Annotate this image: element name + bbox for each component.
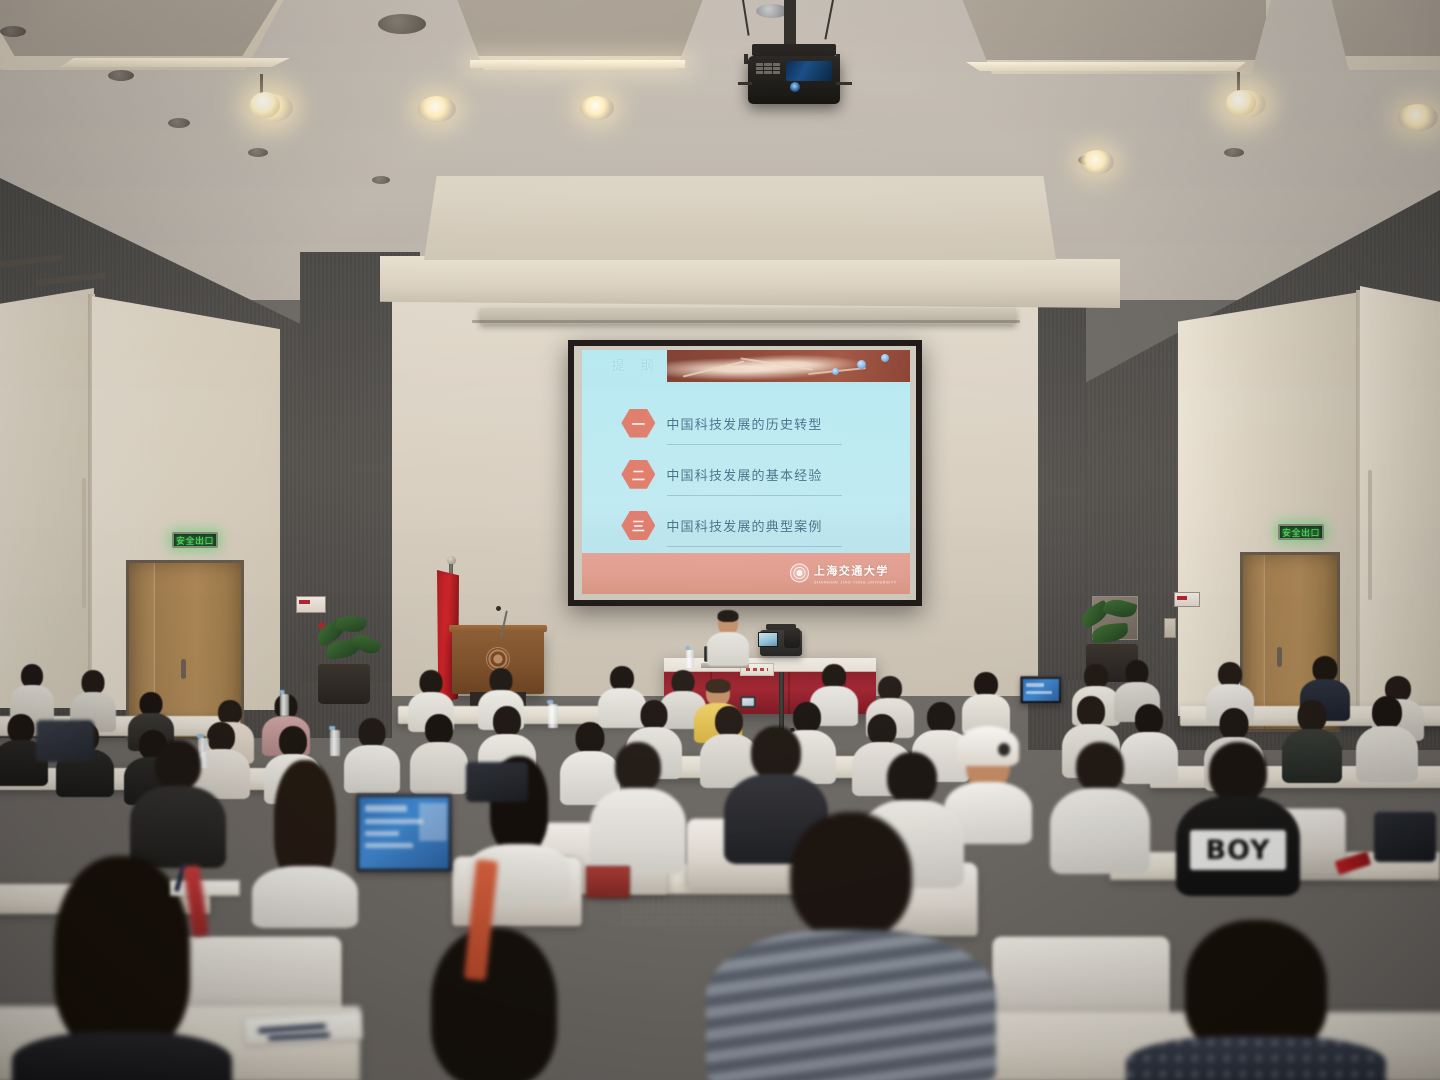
audience-laptop-far-right[interactable] — [1020, 676, 1062, 704]
backpack-right — [1374, 812, 1436, 862]
head — [1135, 704, 1163, 735]
university-logo-text: 上海交通大学 — [814, 565, 889, 578]
bottle-cap — [197, 734, 203, 738]
torso — [706, 930, 996, 1080]
slide-art-node-2 — [881, 354, 889, 362]
head — [751, 726, 801, 780]
laptop-screen-panel — [365, 805, 407, 812]
exit-sign-right-label: 安全出口 — [1282, 526, 1320, 539]
exit-sign-left: 安全出口 — [172, 532, 218, 548]
audience-bottle-3 — [548, 704, 558, 728]
head — [1076, 742, 1124, 792]
slide-outline-item-1: 一 中国科技发展的历史转型 — [621, 409, 822, 438]
slide-item-badge-2: 二 — [621, 460, 655, 489]
projector-keypad — [756, 63, 780, 74]
head — [790, 812, 912, 940]
audience-member-m19 — [1356, 696, 1418, 780]
slide-art-node-3 — [832, 368, 839, 375]
lectern-microphone-head — [496, 606, 501, 611]
head — [8, 714, 35, 743]
audience-member-n2-boy-shirt: BOY — [1176, 742, 1300, 892]
wall-panel-right-reveal — [1368, 470, 1372, 600]
ceiling-speaker-5 — [372, 176, 390, 184]
ceiling-speaker-1 — [378, 14, 426, 34]
tshirt-print: BOY — [1190, 830, 1286, 870]
wall-panel-right-outer — [1360, 286, 1440, 714]
slide-item-underline-1 — [667, 444, 842, 445]
audience-member-n9 — [1050, 742, 1150, 868]
audience-member-n4 — [590, 742, 686, 868]
ceiling-downlight-6 — [1398, 104, 1438, 131]
projector-indicator-panel — [786, 61, 832, 81]
audience-laptop-screen-near — [359, 797, 449, 869]
slide-title: 提 纲 — [612, 355, 660, 374]
torso — [252, 866, 358, 928]
camera-bag-mid — [466, 762, 528, 802]
long-hair — [431, 928, 557, 1080]
cap-button-icon — [998, 743, 1010, 757]
laptop-screen-panel — [419, 803, 447, 841]
pendant-globe-left — [250, 92, 280, 118]
video-camera-lens-hood — [784, 628, 800, 648]
head — [493, 706, 521, 737]
presenter-hair — [718, 610, 739, 622]
white-baseball-cap — [957, 726, 1019, 766]
ceiling-speaker-2 — [108, 70, 134, 81]
head — [279, 726, 307, 757]
bottle-cap — [279, 690, 284, 694]
hair — [706, 679, 731, 693]
head — [1298, 700, 1327, 732]
audience-phone-center[interactable] — [740, 696, 756, 708]
slide-outline-item-3: 三 中国科技发展的典型案例 — [621, 511, 822, 540]
torso — [12, 1032, 232, 1080]
ceiling-cove-light-right — [966, 62, 1246, 71]
slide-item-text-1: 中国科技发展的历史转型 — [666, 414, 822, 433]
wall-notice-plate-left — [296, 596, 326, 613]
laptop-screen-panel — [1026, 683, 1044, 687]
laptop-screen-panel — [365, 843, 413, 848]
head — [1209, 742, 1267, 802]
head — [868, 714, 897, 745]
projector-body — [748, 56, 840, 104]
ceiling-coffer-far-right — [1290, 0, 1440, 70]
audience-bottle-4 — [280, 694, 289, 716]
projection-screen-surface: 提 纲 一 中国科技发展的历史转型 二 中国科技发展的基本经验 三 中国科技发展… — [574, 346, 916, 600]
projector-hanger-wire-left — [742, 0, 750, 36]
slide-footer-band: 上海交通大学 SHANGHAI JIAO TONG UNIVERSITY — [582, 553, 910, 594]
door-left-handle[interactable] — [181, 659, 186, 679]
wall-panel-left-reveal — [82, 478, 86, 608]
projection-screen: 提 纲 一 中国科技发展的历史转型 二 中国科技发展的基本经验 三 中国科技发展… — [568, 340, 922, 606]
presentation-slide: 提 纲 一 中国科技发展的历史转型 二 中国科技发展的基本经验 三 中国科技发展… — [582, 350, 910, 594]
ceiling-downlight-2 — [418, 96, 456, 122]
slide-item-underline-3 — [667, 546, 842, 547]
bottle-cap — [547, 700, 553, 704]
water-bottle-cap — [686, 646, 690, 650]
ceiling-speaker-7 — [1224, 148, 1244, 157]
torso — [410, 742, 468, 794]
long-hair-ponytail — [274, 760, 336, 882]
head — [1077, 696, 1105, 727]
pendant-globe-right — [1226, 90, 1256, 116]
presenter — [706, 612, 750, 664]
audience-member-fg3-striped — [706, 812, 996, 1080]
soffit-shadow-line — [472, 320, 1020, 323]
audience-member-fg4 — [1126, 924, 1386, 1080]
wall-notice-plate-right — [1174, 592, 1200, 607]
university-logo-subtext: SHANGHAI JIAO TONG UNIVERSITY — [814, 580, 897, 585]
torso — [1126, 1036, 1386, 1080]
laptop-screen-panel — [1026, 691, 1052, 694]
exit-sign-left-label: 安全出口 — [176, 534, 214, 547]
head — [155, 740, 201, 790]
projector-side-rail-left — [738, 82, 752, 85]
video-camera-lcd-screen — [758, 632, 778, 647]
ceiling-speaker-3 — [168, 118, 190, 128]
projector-lens — [790, 82, 800, 92]
presenter-torso — [707, 632, 749, 666]
projector-mount-plate — [752, 44, 836, 56]
bottle-cap — [329, 726, 335, 730]
ceiling-downlight-4 — [1080, 150, 1114, 174]
ceiling-downlight-3 — [580, 96, 614, 120]
audience-member-n8 — [130, 740, 226, 862]
audience-member-n7 — [252, 762, 358, 922]
lecture-hall-photo: 安全出口 安全出口 提 纲 一 中国 — [0, 0, 1440, 1080]
head — [359, 718, 386, 748]
audience-member-fg2 — [394, 928, 594, 1080]
slide-art-strand-2 — [740, 357, 812, 370]
pendant-rod-right — [1237, 72, 1240, 92]
ceiling-cove-light-center — [470, 60, 685, 68]
pendant-rod-left — [260, 74, 263, 94]
plant-pot-left — [318, 664, 370, 704]
torso — [1356, 726, 1418, 782]
backpack-left — [36, 720, 94, 762]
red-notebook-mid — [586, 866, 630, 898]
stage-soffit-beam — [380, 256, 1120, 308]
head — [615, 742, 661, 792]
projector-mount-pole — [784, 0, 796, 48]
ceiling-speaker-4 — [248, 148, 268, 157]
slide-art-node-1 — [857, 360, 866, 369]
slide-outline-item-2: 二 中国科技发展的基本经验 — [621, 460, 822, 489]
ceiling-speaker-8 — [0, 26, 26, 37]
head — [641, 700, 668, 730]
audience-laptop-screen — [1023, 679, 1059, 701]
wall-panel-left-outer — [0, 288, 94, 708]
name-plate-text-lines — [746, 668, 768, 671]
university-seal-icon — [790, 564, 809, 583]
slide-item-badge-3: 三 — [621, 511, 655, 540]
wall-control-box-right — [1164, 618, 1176, 638]
lectern-top — [449, 625, 547, 632]
ceiling-cove-light-left — [60, 58, 290, 67]
slide-item-underline-2 — [667, 495, 842, 496]
slide-header-artwork — [667, 350, 910, 382]
head — [425, 714, 453, 745]
door-right-handle[interactable] — [1277, 647, 1282, 667]
head — [1220, 708, 1249, 740]
projector-hanger-wire-right — [824, 0, 834, 39]
stage-upper-slab — [424, 176, 1056, 260]
presenter-water-bottle — [686, 650, 694, 668]
slide-item-text-2: 中国科技发展的基本经验 — [666, 465, 822, 484]
audience-laptop-near-left[interactable] — [356, 794, 452, 872]
head — [1372, 696, 1402, 729]
slide-item-badge-1: 一 — [621, 409, 655, 438]
laptop-screen-panel — [365, 819, 423, 824]
slide-item-text-3: 中国科技发展的典型案例 — [666, 516, 822, 535]
torso — [1050, 788, 1150, 874]
slide-art-strand-1 — [683, 361, 745, 378]
laptop-screen-panel — [365, 831, 399, 836]
university-logo: 上海交通大学 SHANGHAI JIAO TONG UNIVERSITY — [790, 562, 897, 585]
audience-member-m7 — [410, 714, 468, 792]
video-camera-handle — [766, 624, 796, 630]
torso — [590, 788, 686, 874]
phone-screen — [742, 698, 754, 706]
audience-bottle-2 — [330, 730, 340, 756]
exit-sign-right: 安全出口 — [1278, 524, 1324, 540]
projector-side-rail-right — [836, 82, 852, 85]
head — [887, 752, 937, 804]
